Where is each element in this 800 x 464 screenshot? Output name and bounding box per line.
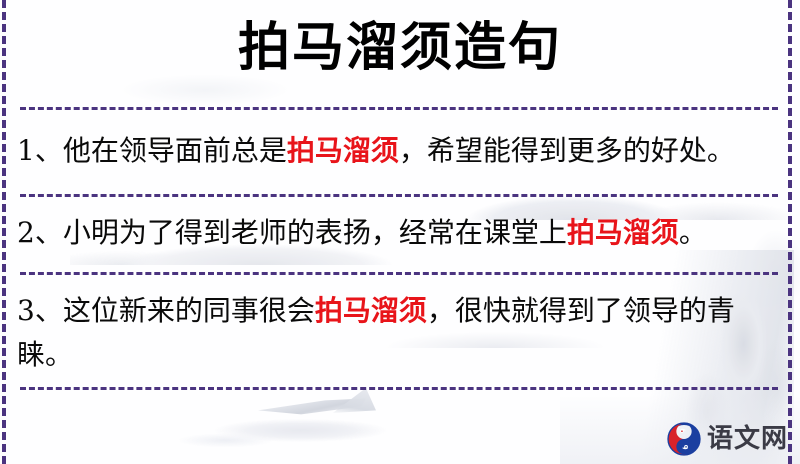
sentence-text-after-1: ，希望能得到更多的好处。 — [399, 134, 735, 167]
sentence-item-2: 2、小明为了得到老师的表扬，经常在课堂上拍马溜须。 — [17, 211, 775, 255]
content-area: 拍马溜须造句 1、他在领导面前总是拍马溜须，希望能得到更多的好处。 2、小明为了… — [0, 0, 800, 464]
watermark-text: 语文网 — [707, 426, 788, 452]
yuwen-circle-logo-icon — [667, 422, 701, 456]
separator-line-3 — [20, 272, 778, 275]
separator-line-1 — [20, 107, 778, 110]
sentence-item-1: 1、他在领导面前总是拍马溜须，希望能得到更多的好处。 — [17, 129, 775, 173]
sentence-text-before-2: 小明为了得到老师的表扬，经常在课堂上 — [63, 216, 567, 249]
site-watermark: 语文网 — [667, 422, 788, 456]
page-title: 拍马溜须造句 — [0, 18, 800, 78]
sentence-text-after-2: 。 — [679, 216, 707, 249]
idiom-highlight-3: 拍马溜须 — [315, 294, 427, 327]
sentence-number-1: 1、 — [17, 134, 63, 167]
sentence-number-3: 3、 — [17, 294, 63, 327]
worksheet-page: 拍马溜须造句 1、他在领导面前总是拍马溜须，希望能得到更多的好处。 2、小明为了… — [0, 0, 800, 464]
separator-line-2 — [20, 194, 778, 197]
idiom-highlight-2: 拍马溜须 — [567, 216, 679, 249]
sentence-text-before-1: 他在领导面前总是 — [63, 134, 287, 167]
separator-line-4 — [20, 387, 778, 390]
sentence-number-2: 2、 — [17, 216, 63, 249]
sentence-text-before-3: 这位新来的同事很会 — [63, 294, 315, 327]
sentence-item-3: 3、这位新来的同事很会拍马溜须，很快就得到了领导的青睐。 — [17, 289, 775, 377]
idiom-highlight-1: 拍马溜须 — [287, 134, 399, 167]
